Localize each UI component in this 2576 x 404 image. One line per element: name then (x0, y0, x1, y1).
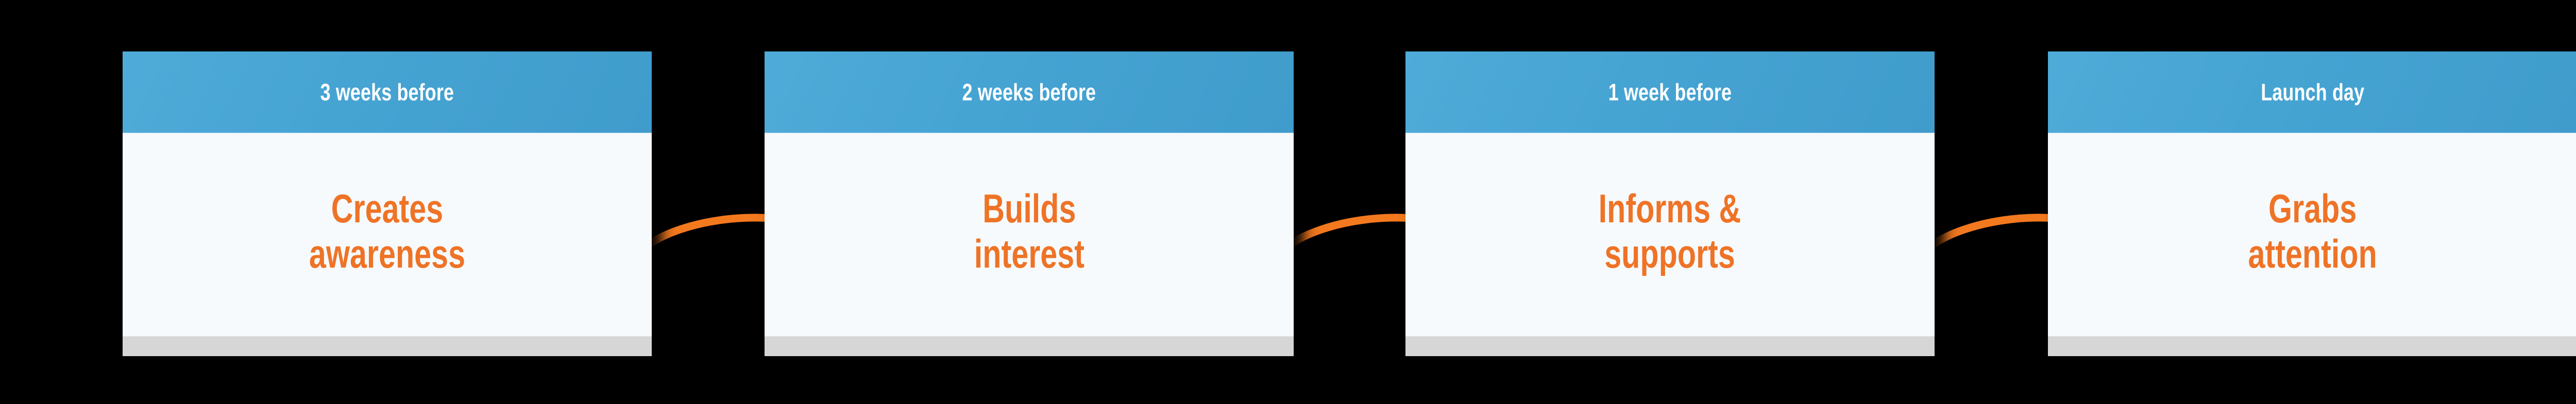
step-footer-1 (123, 336, 652, 356)
timeline-diagram: 3 weeks before Creates awareness 2 weeks… (0, 0, 2576, 404)
step-body-text-1: Creates awareness (309, 186, 465, 276)
step-body-text-4: Grabs attention (2248, 186, 2377, 276)
timeline-step-card-3[interactable]: 1 week before Informs & supports (1405, 51, 1935, 356)
timeline-step-card-4[interactable]: Launch day Grabs attention (2048, 51, 2576, 356)
step-header-3: 1 week before (1405, 51, 1935, 134)
step-footer-4 (2048, 336, 2576, 356)
step-header-label-4: Launch day (2261, 80, 2364, 104)
step-header-label-1: 3 weeks before (320, 80, 454, 104)
step-body-1: Creates awareness (123, 134, 652, 336)
step-body-3: Informs & supports (1405, 134, 1935, 336)
timeline-step-card-2[interactable]: 2 weeks before Builds interest (765, 51, 1294, 356)
step-body-2: Builds interest (765, 134, 1294, 336)
timeline-step-card-1[interactable]: 3 weeks before Creates awareness (123, 51, 652, 356)
step-body-4: Grabs attention (2048, 134, 2576, 336)
step-header-1: 3 weeks before (123, 51, 652, 134)
step-body-text-3: Informs & supports (1599, 186, 1741, 276)
step-header-2: 2 weeks before (765, 51, 1294, 134)
step-header-4: Launch day (2048, 51, 2576, 134)
step-body-text-2: Builds interest (974, 186, 1084, 276)
step-footer-2 (765, 336, 1294, 356)
step-header-label-3: 1 week before (1608, 80, 1732, 104)
step-footer-3 (1405, 336, 1935, 356)
step-header-label-2: 2 weeks before (962, 80, 1096, 104)
